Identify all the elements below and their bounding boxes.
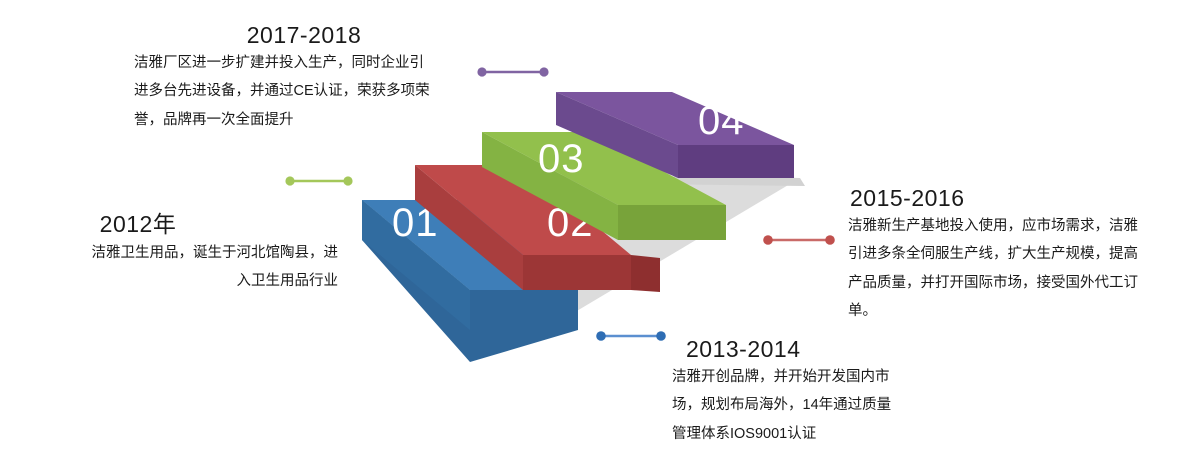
callout-2013: 2013-2014 洁雅开创品牌，并开始开发国内市 场，规划布局海外，14年通过… xyxy=(672,336,962,448)
connector-2015 xyxy=(763,235,835,245)
step-03-front-face xyxy=(618,205,726,240)
connector-2013 xyxy=(596,331,666,341)
infographic-canvas: 01 02 03 04 xyxy=(0,0,1200,463)
callout-2012: 2012年 洁雅卫生用品，诞生于河北馆陶县，进 入卫生用品行业 xyxy=(8,205,338,296)
connector-2017 xyxy=(477,67,548,76)
step-02-front-face xyxy=(523,255,631,290)
callout-2012-year: 2012年 xyxy=(8,205,338,239)
connector-dot-right-2017 xyxy=(539,67,548,76)
callout-2015-line-4: 单。 xyxy=(848,297,1178,325)
connector-dot-right-2013 xyxy=(656,331,666,341)
connector-dot-right-2012 xyxy=(343,176,352,185)
connector-dot-left-2013 xyxy=(596,331,606,341)
callout-2013-line-1: 洁雅开创品牌，并开始开发国内市 xyxy=(672,363,962,391)
step-02-side-right xyxy=(631,255,660,292)
connector-dot-right-2015 xyxy=(825,235,835,245)
callout-2013-body: 洁雅开创品牌，并开始开发国内市 场，规划布局海外，14年通过质量 管理体系IOS… xyxy=(672,363,962,448)
callout-2017-line-1: 洁雅厂区进一步扩建并投入生产，同时企业引 xyxy=(134,49,434,77)
step-04-front-face xyxy=(678,145,794,178)
step-04-number: 04 xyxy=(698,99,745,143)
connector-dot-left-2015 xyxy=(763,235,773,245)
step-01-front-face xyxy=(470,290,578,322)
callout-2015-year: 2015-2016 xyxy=(848,185,1178,212)
callout-2012-body: 洁雅卫生用品，诞生于河北馆陶县，进 入卫生用品行业 xyxy=(8,239,338,296)
callout-2013-line-2: 场，规划布局海外，14年通过质量 xyxy=(672,391,962,419)
callout-2013-year: 2013-2014 xyxy=(672,336,962,363)
callout-2015: 2015-2016 洁雅新生产基地投入使用，应市场需求，洁雅 引进多条全伺服生产… xyxy=(848,185,1178,325)
connector-dot-left-2017 xyxy=(477,67,486,76)
callout-2015-line-1: 洁雅新生产基地投入使用，应市场需求，洁雅 xyxy=(848,212,1178,240)
callout-2015-body: 洁雅新生产基地投入使用，应市场需求，洁雅 引进多条全伺服生产线，扩大生产规模，提… xyxy=(848,212,1178,325)
step-03-number: 03 xyxy=(538,137,585,181)
callout-2017-line-3: 誉，品牌再一次全面提升 xyxy=(134,106,434,134)
connector-2012 xyxy=(285,176,352,185)
callout-2017-body: 洁雅厂区进一步扩建并投入生产，同时企业引 进多台先进设备，并通过CE认证，荣获多… xyxy=(14,49,434,134)
callout-2015-line-3: 产品质量，并打开国际市场，接受国外代工订 xyxy=(848,269,1178,297)
callout-2015-line-2: 引进多条全伺服生产线，扩大生产规模，提高 xyxy=(848,240,1178,268)
callout-2012-line-1: 洁雅卫生用品，诞生于河北馆陶县，进 xyxy=(8,239,338,267)
callout-2017: 2017-2018 洁雅厂区进一步扩建并投入生产，同时企业引 进多台先进设备，并… xyxy=(14,22,434,134)
callout-2017-line-2: 进多台先进设备，并通过CE认证，荣获多项荣 xyxy=(134,77,434,105)
callout-2012-line-2: 入卫生用品行业 xyxy=(8,267,338,295)
connector-dot-left-2012 xyxy=(285,176,294,185)
callout-2017-year: 2017-2018 xyxy=(14,22,434,49)
callout-2013-line-3: 管理体系IOS9001认证 xyxy=(672,420,962,448)
